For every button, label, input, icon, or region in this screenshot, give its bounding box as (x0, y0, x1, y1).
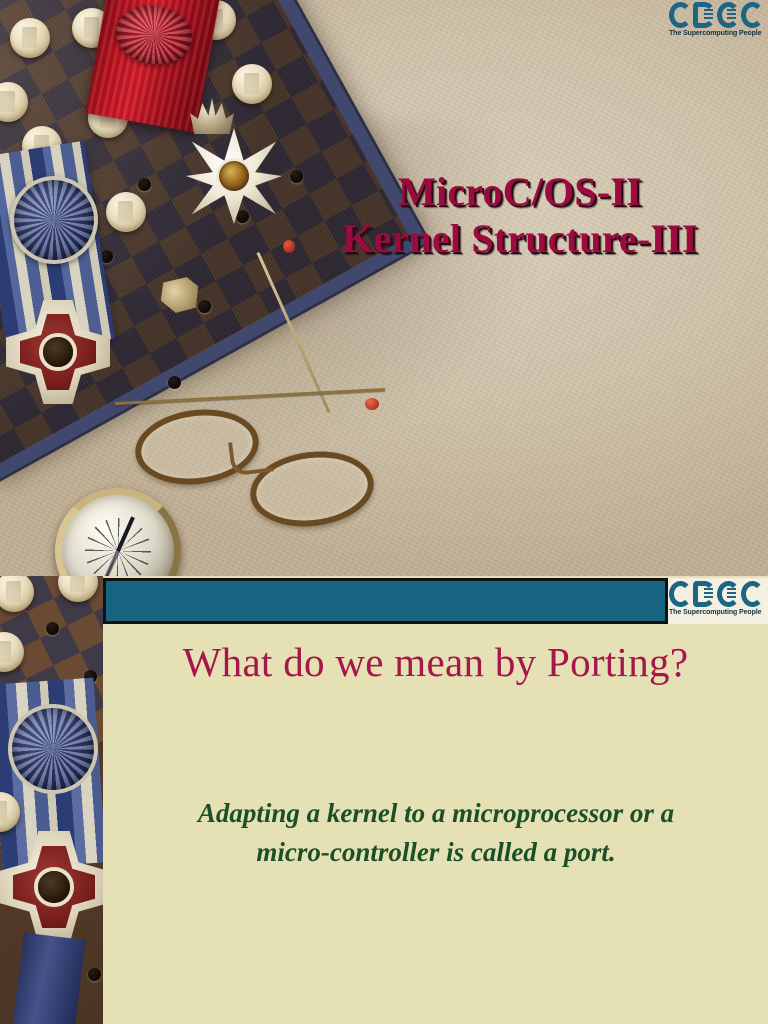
cdac-logo-marks (668, 580, 768, 608)
game-piece (10, 18, 50, 58)
hat-pin-head (283, 240, 295, 253)
logo-letter-c2-icon (741, 2, 764, 28)
logo-letter-c-icon (669, 2, 692, 28)
cdac-logo: The Supercomputing People (668, 580, 768, 622)
sidebar-rosette (8, 704, 98, 794)
slide2-sidebar-photo (0, 576, 103, 1024)
slide1-title: MicroC/OS-II Kernel Structure-III (300, 168, 740, 262)
presentation-page: MicroC/OS-II Kernel Structure-III The Su… (0, 0, 768, 1024)
slide1-title-line-1: MicroC/OS-II (300, 168, 740, 215)
slide2-body-line-1: Adapting a kernel to a microprocessor or… (141, 794, 731, 833)
sidebar-ribbon-tail (12, 933, 85, 1024)
cdac-logo-marks (668, 1, 768, 29)
cdac-logo-tagline: The Supercomputing People (668, 29, 768, 39)
game-piece (106, 192, 146, 232)
slide1-title-line-2: Kernel Structure-III (300, 215, 740, 262)
logo-letter-d-icon (693, 2, 716, 28)
game-piece (232, 64, 272, 104)
cdac-logo-slide2: The Supercomputing People (668, 578, 768, 624)
board-stud (46, 622, 59, 635)
blue-rosette (10, 176, 98, 264)
slide-1: MicroC/OS-II Kernel Structure-III The Su… (0, 0, 768, 576)
slide2-body-text: Adapting a kernel to a microprocessor or… (141, 794, 731, 872)
cdac-logo-slide1: The Supercomputing People (668, 1, 768, 43)
logo-letter-a-icon (717, 581, 740, 607)
slide-2: The Supercomputing People What do we mea… (0, 576, 768, 1024)
logo-letter-a-icon (717, 2, 740, 28)
logo-letter-c2-icon (741, 581, 764, 607)
board-stud (138, 178, 151, 191)
board-stud (198, 300, 211, 313)
spectacles-bridge (228, 438, 274, 477)
cdac-logo: The Supercomputing People (668, 1, 768, 43)
board-stud (168, 376, 181, 389)
slide2-title-bar (103, 578, 668, 624)
logo-letter-d-icon (693, 581, 716, 607)
slide2-content-area: The Supercomputing People What do we mea… (103, 576, 768, 1024)
slide2-body-line-2: micro-controller is called a port. (141, 833, 731, 872)
slide2-heading: What do we mean by Porting? (103, 638, 768, 686)
hat-pin-tip (365, 398, 379, 410)
cdac-logo-tagline: The Supercomputing People (668, 608, 768, 618)
board-stud (88, 968, 101, 981)
logo-letter-c-icon (669, 581, 692, 607)
